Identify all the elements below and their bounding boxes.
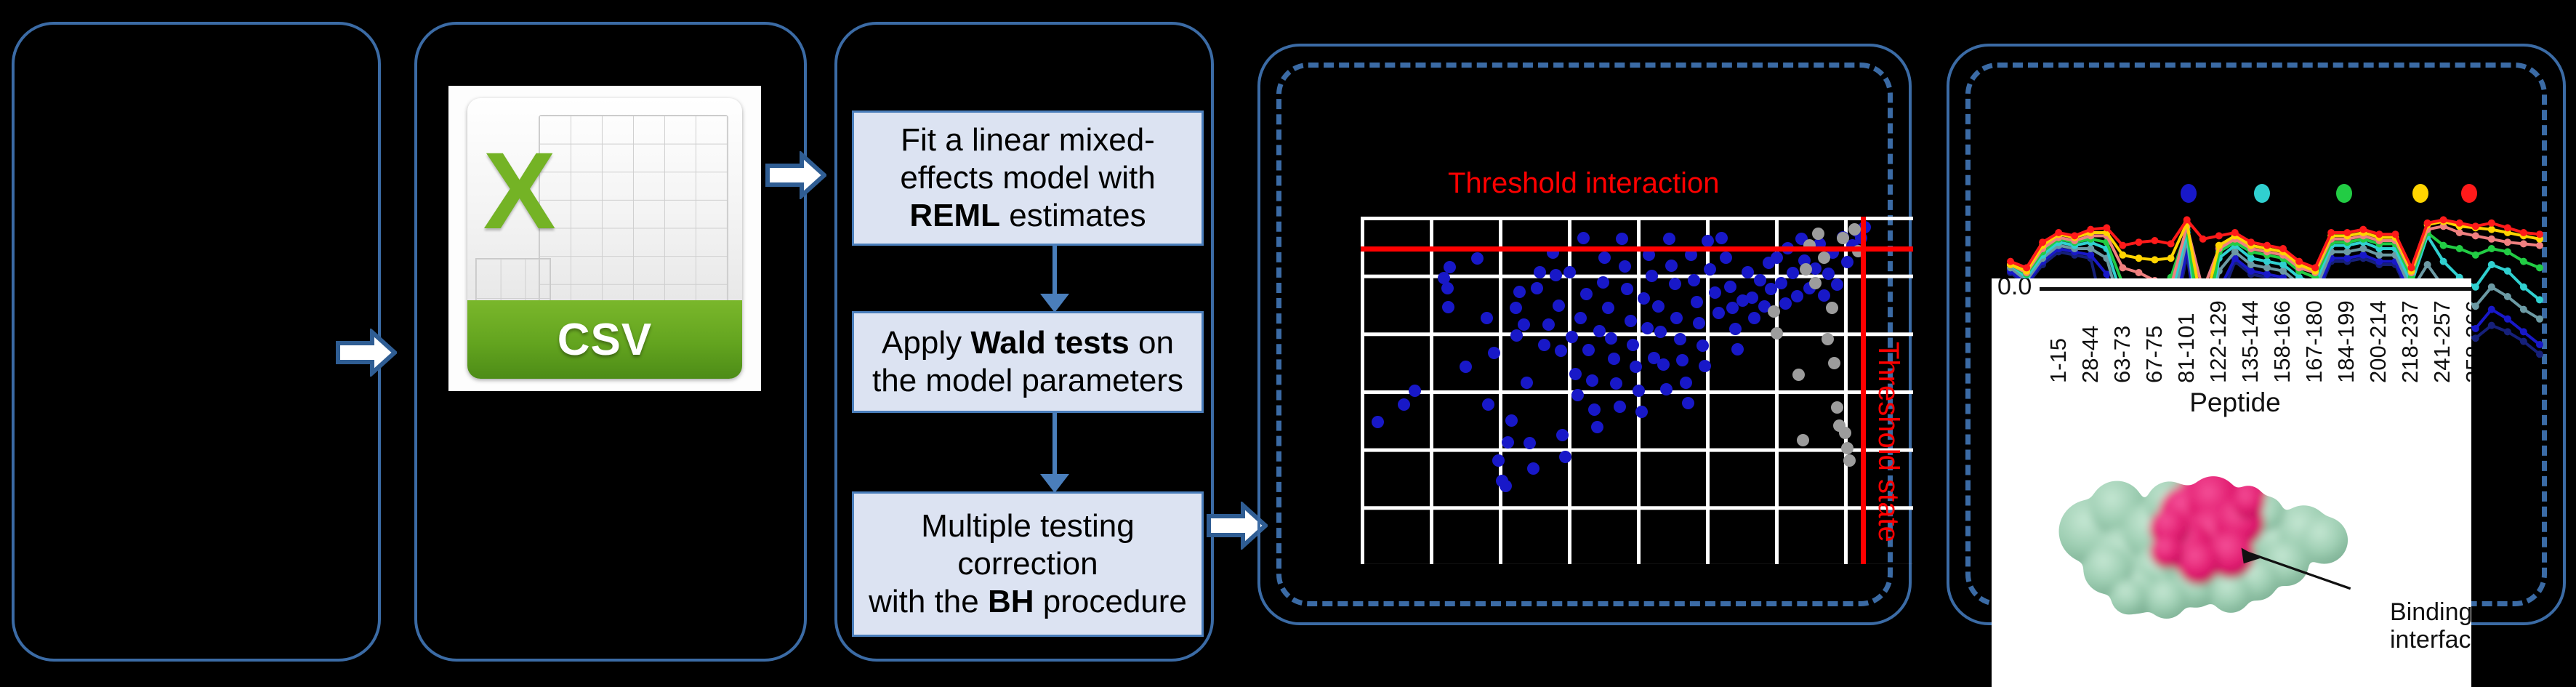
spectra-marker-series-red — [2263, 242, 2271, 249]
spectra-marker-series-blue — [2472, 325, 2479, 332]
volcano-point-significant — [1409, 385, 1421, 397]
volcano-point-non-significant — [1841, 442, 1853, 454]
spectra-marker-series-cyan — [2488, 261, 2495, 268]
volcano-point-significant — [1657, 358, 1670, 371]
volcano-point-significant — [1654, 326, 1667, 338]
volcano-point-significant — [1538, 339, 1550, 351]
peptide-tick-label: 63-73 — [2109, 294, 2136, 383]
volcano-point-significant — [1742, 266, 1754, 278]
peptide-tick-label: 218-237 — [2397, 294, 2423, 383]
volcano-point-significant — [1822, 268, 1835, 280]
volcano-point-non-significant — [1826, 302, 1838, 314]
spectra-marker-series-red — [2392, 230, 2399, 238]
volcano-point-significant — [1608, 353, 1620, 365]
volcano-point-significant — [1550, 269, 1562, 281]
volcano-point-significant — [1582, 344, 1595, 356]
wald-tests-box: Apply Wald tests onthe model parameters — [852, 311, 1204, 413]
spectra-marker-series-red — [2408, 264, 2415, 271]
volcano-point-significant — [1510, 329, 1523, 342]
threshold-state-label: Threshold state — [1872, 342, 1904, 542]
spectra-marker-series-salmon — [2472, 232, 2479, 239]
spectra-marker-series-red — [2424, 220, 2431, 227]
spectra-marker-series-steel — [2520, 306, 2527, 313]
volcano-point-non-significant — [1828, 357, 1840, 369]
volcano-point-significant — [1635, 406, 1648, 418]
spectra-marker-series-yellow — [2152, 256, 2159, 263]
volcano-point-non-significant — [1768, 305, 1780, 318]
arrow-into-csv — [336, 329, 397, 377]
spectra-marker-series-steel — [2472, 302, 2479, 310]
peptide-tick-label: 200-214 — [2365, 294, 2391, 383]
spectra-marker-series-salmon — [2456, 229, 2463, 236]
volcano-point-significant — [1669, 278, 1681, 290]
spectra-marker-series-red — [2183, 216, 2191, 223]
volcano-plot — [1361, 217, 1913, 564]
wald-tests-text: Apply Wald tests onthe model parameters — [872, 324, 1183, 400]
csv-format-label: CSV — [558, 314, 652, 366]
legend-dot-yellow — [2412, 184, 2428, 203]
spectra-marker-series-navy — [2472, 334, 2479, 342]
spectra-marker-series-yellow — [2136, 254, 2143, 262]
volcano-point-significant — [1471, 252, 1484, 265]
spectra-marker-series-red — [2247, 238, 2255, 246]
volcano-point-significant — [1641, 322, 1654, 334]
binding-interface-line1: Binding — [2390, 598, 2471, 626]
volcano-point-significant — [1524, 437, 1536, 449]
csv-file-icon: X CSV — [448, 86, 761, 391]
spectra-marker-series-blue — [2247, 268, 2255, 275]
volcano-point-significant — [1699, 360, 1711, 372]
volcano-point-significant — [1646, 270, 1658, 282]
spectra-marker-series-red — [2199, 236, 2207, 243]
volcano-point-significant — [1638, 292, 1650, 305]
volcano-point-significant — [1688, 274, 1700, 286]
spectra-marker-series-red — [2007, 258, 2014, 265]
volcano-point-significant — [1441, 282, 1454, 294]
result-image-panel: 0.0 1-1528-4463-7367-7581-101122-129135-… — [1992, 278, 2471, 687]
arrow-csv-to-model — [765, 151, 826, 199]
x-axis-caption: Peptide — [2152, 387, 2319, 418]
volcano-point-significant — [1602, 302, 1614, 314]
spectra-marker-series-cyan — [2440, 258, 2447, 265]
spectra-marker-series-blue — [2504, 316, 2511, 323]
volcano-point-significant — [1593, 325, 1606, 337]
volcano-point-significant — [1709, 286, 1721, 299]
csv-icon-body: X CSV — [467, 98, 742, 379]
volcano-point-significant — [1510, 302, 1522, 314]
spectra-marker-series-blue — [2263, 270, 2271, 278]
spectra-marker-series-salmon — [2520, 240, 2527, 247]
volcano-point-significant — [1580, 288, 1593, 300]
peptide-tick-labels: 1-1528-4463-7367-7581-101122-129135-1441… — [2045, 294, 2471, 383]
multiple-testing-text: Multiple testingcorrectionwith the BH pr… — [869, 507, 1187, 621]
volcano-point-significant — [1492, 454, 1505, 467]
volcano-point-significant — [1569, 368, 1582, 380]
volcano-point-significant — [1513, 286, 1526, 298]
threshold-interaction-line — [1361, 246, 1913, 252]
peptide-tick-label: 67-75 — [2141, 294, 2168, 383]
spectra-marker-series-red — [2440, 216, 2447, 223]
volcano-point-non-significant — [1831, 401, 1843, 414]
peptide-tick-label: 1-15 — [2045, 294, 2072, 383]
volcano-point-significant — [1729, 323, 1742, 335]
volcano-point-significant — [1621, 283, 1633, 295]
x-axis-line — [2040, 287, 2471, 291]
volcano-point-non-significant — [1839, 427, 1851, 439]
volcano-point-significant — [1663, 233, 1675, 245]
volcano-point-non-significant — [1771, 327, 1783, 340]
volcano-point-significant — [1588, 403, 1601, 416]
spectra-marker-series-steel — [2343, 248, 2351, 255]
spectra-marker-series-cyan — [2520, 284, 2527, 291]
spectra-marker-series-steel — [2375, 252, 2383, 259]
fit-model-box: Fit a linear mixed-effects model withREM… — [852, 111, 1204, 246]
spectra-marker-series-blue — [2087, 252, 2094, 259]
volcano-point-significant — [1831, 278, 1843, 291]
volcano-point-significant — [1614, 401, 1626, 413]
volcano-point-significant — [1633, 385, 1645, 397]
spectra-marker-series-green — [2536, 264, 2543, 271]
connector-wald-to-bh — [1052, 413, 1057, 477]
volcano-point-significant — [1771, 252, 1783, 264]
spectra-marker-series-navy — [2520, 338, 2527, 345]
volcano-point-significant — [1442, 301, 1454, 313]
connector-arrowhead-wald — [1040, 294, 1069, 313]
volcano-point-non-significant — [1800, 263, 1812, 276]
spectra-marker-series-salmon — [2536, 242, 2543, 249]
spectra-marker-series-green — [2440, 242, 2447, 249]
legend-dot-green — [2336, 184, 2352, 203]
volcano-point-significant — [1488, 347, 1500, 359]
volcano-point-significant — [1460, 361, 1472, 373]
spectra-marker-series-yellow — [2168, 254, 2175, 262]
legend-dot-red — [2461, 184, 2477, 203]
volcano-point-significant — [1553, 300, 1565, 312]
spectra-marker-series-blue — [2536, 341, 2543, 348]
fit-model-text: Fit a linear mixed-effects model withREM… — [900, 121, 1155, 235]
spectra-marker-series-blue — [2488, 306, 2495, 313]
csv-format-band: CSV — [467, 300, 742, 379]
volcano-point-significant — [1555, 345, 1567, 357]
volcano-point-significant — [1444, 261, 1456, 273]
spectra-marker-series-red — [2119, 242, 2126, 249]
spectra-marker-series-green — [2488, 245, 2495, 252]
volcano-point-significant — [1704, 263, 1716, 276]
threshold-interaction-label: Threshold interaction — [1448, 167, 1720, 200]
volcano-point-significant — [1691, 296, 1703, 308]
volcano-point-significant — [1619, 260, 1631, 273]
volcano-point-significant — [1531, 282, 1543, 294]
volcano-point-significant — [1597, 276, 1609, 289]
peptide-tick-label: 81-101 — [2173, 294, 2199, 383]
volcano-point-non-significant — [1818, 252, 1830, 264]
volcano-point-significant — [1500, 480, 1512, 492]
volcano-point-significant — [1372, 416, 1384, 428]
spectra-marker-series-red — [2536, 230, 2543, 238]
threshold-state-line — [1861, 217, 1866, 564]
spectra-marker-series-red — [2215, 232, 2223, 239]
peptide-tick-label: 158-166 — [2269, 294, 2295, 383]
volcano-point-significant — [1542, 318, 1555, 331]
volcano-point-significant — [1571, 389, 1584, 401]
volcano-point-non-significant — [1843, 454, 1856, 467]
spectra-marker-series-salmon — [2119, 264, 2126, 271]
volcano-point-significant — [1724, 281, 1736, 293]
spectra-marker-series-blue — [2343, 254, 2351, 262]
spectra-marker-series-cyan — [2263, 258, 2271, 265]
volcano-point-significant — [1731, 343, 1744, 355]
spectra-marker-series-yellow — [2119, 252, 2126, 259]
spectra-marker-series-red — [2168, 240, 2175, 247]
spectra-marker-series-navy — [2488, 322, 2495, 329]
volcano-point-significant — [1502, 436, 1514, 449]
input-panel — [12, 22, 381, 662]
volcano-point-significant — [1598, 252, 1611, 264]
volcano-point-significant — [1566, 331, 1578, 343]
volcano-point-significant — [1563, 266, 1576, 278]
volcano-point-significant — [1518, 318, 1530, 331]
spectra-marker-series-red — [2039, 238, 2046, 246]
spectra-marker-series-red — [2103, 224, 2110, 231]
spectra-marker-series-blue — [2359, 252, 2367, 259]
volcano-point-significant — [1748, 312, 1760, 324]
spectra-marker-series-cyan — [2472, 284, 2479, 291]
peptide-tick-label: 241-257 — [2429, 294, 2455, 383]
spectra-marker-series-navy — [2536, 350, 2543, 358]
volcano-point-significant — [1556, 429, 1569, 441]
volcano-point-non-significant — [1822, 333, 1834, 345]
spectra-marker-series-red — [2311, 264, 2319, 271]
volcano-point-non-significant — [1792, 369, 1805, 381]
volcano-point-significant — [1591, 421, 1603, 433]
multiple-testing-box: Multiple testingcorrectionwith the BH pr… — [852, 491, 1204, 637]
volcano-point-significant — [1715, 232, 1728, 244]
spectra-marker-series-steel — [2087, 245, 2094, 252]
spectra-marker-series-steel — [2424, 261, 2431, 268]
volcano-point-significant — [1682, 397, 1694, 409]
spectra-marker-series-salmon — [2504, 238, 2511, 246]
spectra-marker-series-red — [2136, 238, 2143, 246]
spectra-marker-series-red — [2327, 229, 2335, 236]
connector-arrowhead-bh — [1040, 474, 1069, 493]
peptide-tick-label: 258-266 — [2461, 294, 2471, 383]
volcano-point-significant — [1398, 398, 1410, 411]
spectra-marker-series-blue — [2520, 328, 2527, 335]
volcano-point-non-significant — [1809, 277, 1822, 289]
volcano-point-significant — [1791, 290, 1803, 302]
volcano-point-significant — [1527, 462, 1539, 475]
spectra-marker-series-red — [2456, 220, 2463, 227]
volcano-point-significant — [1818, 289, 1830, 302]
volcano-point-non-significant — [1848, 223, 1861, 236]
spectra-marker-series-cyan — [2536, 296, 2543, 303]
connector-fit-to-wald — [1052, 246, 1057, 297]
volcano-point-significant — [1605, 332, 1617, 345]
volcano-point-significant — [1630, 361, 1642, 373]
volcano-point-layer — [1361, 217, 1913, 564]
volcano-point-significant — [1534, 266, 1546, 278]
volcano-point-significant — [1693, 317, 1705, 329]
volcano-point-significant — [1680, 377, 1692, 389]
spectra-marker-series-salmon — [2136, 269, 2143, 276]
volcano-point-significant — [1574, 312, 1587, 324]
binding-interface-line2: interface — [2390, 626, 2471, 654]
spectra-marker-series-cyan — [2504, 268, 2511, 275]
volcano-point-significant — [1586, 374, 1598, 387]
spectra-marker-series-steel — [2359, 245, 2367, 252]
volcano-point-significant — [1559, 451, 1571, 463]
volcano-point-significant — [1505, 414, 1518, 427]
volcano-point-significant — [1665, 260, 1678, 272]
spectra-marker-series-red — [2520, 229, 2527, 236]
volcano-point-significant — [1627, 339, 1639, 351]
peptide-tick-label: 167-180 — [2301, 294, 2327, 383]
spectra-marker-series-yellow — [2488, 226, 2495, 233]
volcano-point-significant — [1610, 377, 1622, 390]
spectra-marker-series-green — [2504, 248, 2511, 255]
spectra-marker-series-red — [2504, 224, 2511, 231]
volcano-point-significant — [1779, 297, 1792, 310]
volcano-point-non-significant — [1797, 434, 1809, 446]
legend-dot-blue — [2181, 184, 2197, 203]
spectra-marker-series-red — [2152, 237, 2159, 244]
spectra-marker-series-red — [2279, 245, 2287, 252]
volcano-point-significant — [1746, 292, 1758, 304]
volcano-point-significant — [1670, 312, 1683, 324]
spectra-marker-series-red — [2087, 226, 2094, 233]
binding-interface-annotation: Binding interface — [2390, 598, 2471, 654]
spectra-marker-series-blue — [2375, 258, 2383, 265]
spectra-marker-series-steel — [2536, 316, 2543, 323]
volcano-point-significant — [1712, 307, 1725, 319]
y-axis-tick-label: 0.0 — [1997, 278, 2032, 301]
spectra-marker-series-red — [2023, 264, 2030, 271]
volcano-point-significant — [1726, 302, 1739, 314]
spectra-marker-series-red — [2472, 222, 2479, 230]
peptide-tick-label: 28-44 — [2077, 294, 2104, 383]
spectra-marker-series-navy — [2504, 328, 2511, 335]
peptide-tick-label: 122-129 — [2205, 294, 2231, 383]
volcano-point-significant — [1696, 340, 1709, 352]
protein-structure-render — [2021, 422, 2406, 640]
volcano-point-significant — [1702, 235, 1714, 247]
spectra-marker-series-red — [2071, 232, 2078, 239]
volcano-point-significant — [1616, 233, 1628, 245]
spectra-marker-series-steel — [2247, 261, 2255, 268]
spectra-marker-series-red — [2231, 229, 2239, 236]
peptide-tick-label: 135-144 — [2237, 294, 2263, 383]
spectra-marker-series-green — [2472, 252, 2479, 259]
spectra-marker-series-steel — [2488, 284, 2495, 291]
volcano-point-significant — [1482, 398, 1494, 411]
volcano-point-significant — [1660, 383, 1673, 395]
legend-dot-cyan — [2254, 184, 2270, 203]
volcano-point-significant — [1787, 267, 1799, 279]
spectra-marker-series-green — [2456, 245, 2463, 252]
spectra-marker-series-red — [2055, 229, 2062, 236]
peptide-tick-label: 184-199 — [2333, 294, 2359, 383]
spectra-marker-series-steel — [2263, 264, 2271, 271]
volcano-point-significant — [1674, 333, 1686, 345]
volcano-point-significant — [1577, 232, 1590, 244]
volcano-point-significant — [1841, 256, 1853, 268]
spectra-marker-series-cyan — [2247, 254, 2255, 262]
volcano-point-significant — [1754, 274, 1766, 286]
volcano-point-significant — [1652, 300, 1665, 313]
volcano-point-non-significant — [1837, 232, 1849, 244]
volcano-point-significant — [1481, 312, 1493, 324]
spectra-marker-series-red — [2295, 258, 2303, 265]
spectra-marker-series-red — [2488, 220, 2495, 227]
spectra-marker-series-green — [2520, 258, 2527, 265]
spectra-marker-series-red — [2359, 226, 2367, 233]
volcano-point-significant — [1521, 377, 1533, 389]
excel-x-glyph: X — [472, 104, 566, 278]
volcano-point-significant — [1676, 354, 1689, 366]
spectra-marker-series-steel — [2504, 293, 2511, 300]
spectra-marker-series-yellow — [2215, 242, 2223, 249]
spectra-marker-series-red — [2343, 229, 2351, 236]
spectra-marker-series-salmon — [2488, 236, 2495, 243]
volcano-point-significant — [1720, 252, 1732, 264]
volcano-point-significant — [1625, 315, 1637, 327]
volcano-point-significant — [1775, 277, 1787, 289]
spectra-marker-series-red — [2375, 230, 2383, 238]
